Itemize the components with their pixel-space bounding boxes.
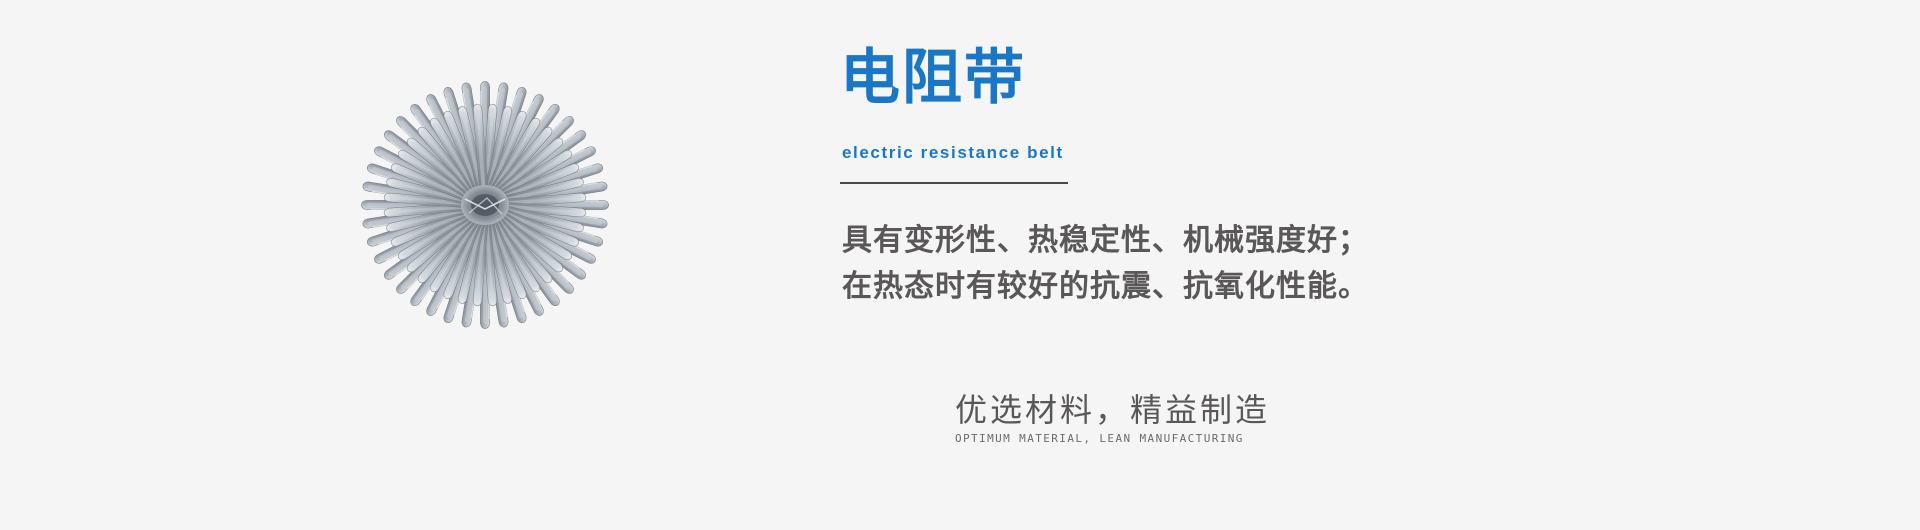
tagline-block: 优选材料，精益制造 OPTIMUM MATERIAL, LEAN MANUFAC… bbox=[955, 390, 1270, 446]
title-divider bbox=[840, 182, 1068, 184]
resistance-belt-burst-graphic bbox=[300, 55, 670, 375]
product-banner: 电阻带 electric resistance belt 具有变形性、热稳定性、… bbox=[0, 0, 1920, 530]
description-line-1: 具有变形性、热稳定性、机械强度好； bbox=[842, 218, 1462, 264]
product-image bbox=[300, 55, 670, 375]
page-title: 电阻带 bbox=[840, 46, 1026, 110]
description-line-2: 在热态时有较好的抗震、抗氧化性能。 bbox=[842, 264, 1462, 310]
tagline-chinese: 优选材料，精益制造 bbox=[955, 390, 1270, 430]
page-subtitle: electric resistance belt bbox=[842, 143, 1064, 163]
tagline-english: OPTIMUM MATERIAL, LEAN MANUFACTURING bbox=[955, 432, 1270, 446]
banner-content: 电阻带 electric resistance belt 具有变形性、热稳定性、… bbox=[840, 0, 1840, 530]
product-description: 具有变形性、热稳定性、机械强度好； 在热态时有较好的抗震、抗氧化性能。 bbox=[842, 218, 1462, 310]
